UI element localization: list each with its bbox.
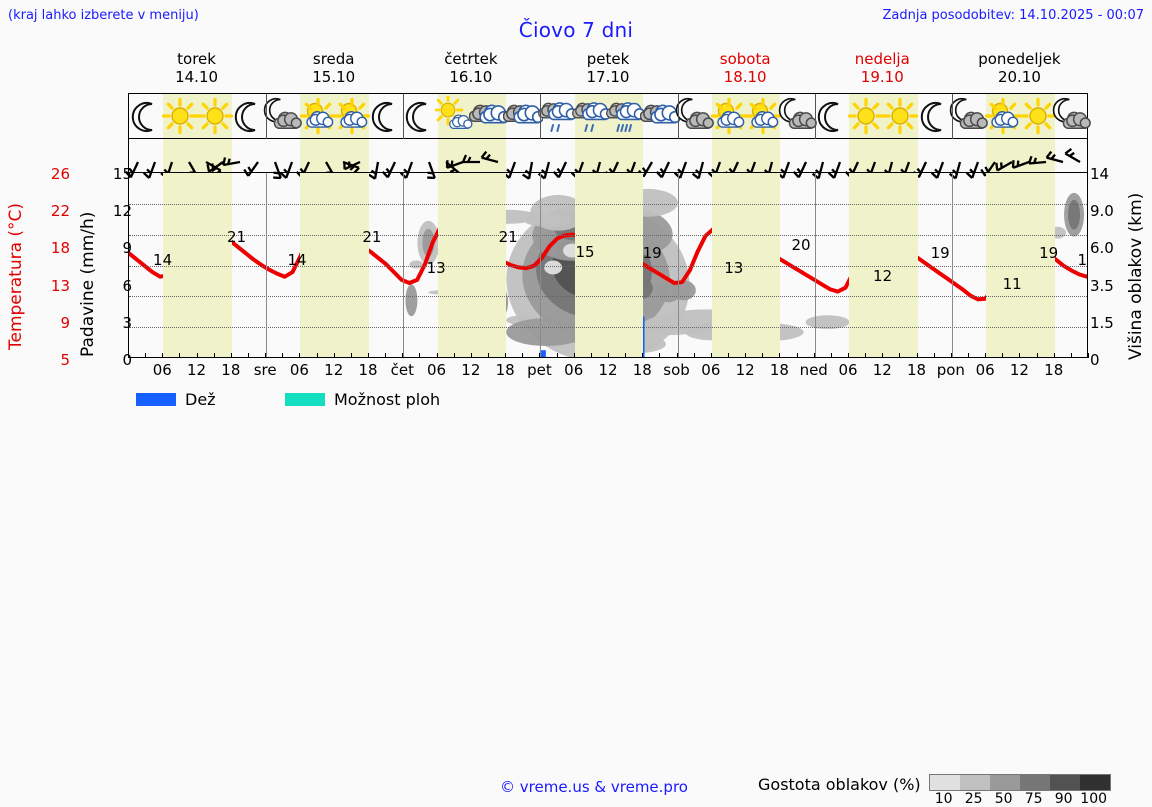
wind-barb [1069,142,1091,168]
hour-tick-mark [625,353,626,358]
cloud-density-swatch [930,775,960,790]
hour-tick-mark [814,353,815,358]
day-gridline [403,173,404,357]
hour-tick-label: čet [391,361,414,379]
axis-tick-label: 26 [51,165,70,183]
axis-tick-label: 0 [1090,351,1100,369]
hour-tick-mark [248,353,249,358]
temperature-label-max: 19 [931,244,950,262]
hour-tick-mark [539,353,540,358]
hour-tick-mark [934,353,935,358]
cloud-density-swatch [1050,775,1080,790]
cloud-density-legend-title: Gostota oblakov (%) [758,774,921,794]
hour-tick-mark [1088,353,1089,358]
axis-tick-label: 9 [60,314,70,332]
hour-tick-mark [608,353,609,358]
axis-tick-label: 1.5 [1090,314,1114,332]
hour-tick-label: 12 [873,361,892,379]
legend-item-rain: Dež [136,390,216,409]
hour-tick-mark [1019,353,1020,358]
axis-tick-label: 6.0 [1090,239,1114,257]
hour-tick-mark [385,353,386,358]
hour-tick-mark [574,353,575,358]
axis-tick-label: 3 [122,314,132,332]
hour-tick-mark [762,353,763,358]
day-header-sobota: sobota18.10 [677,50,814,92]
hour-tick-label: 12 [461,361,480,379]
axis-tick-label: 12 [113,202,132,220]
day-header-četrtek: četrtek16.10 [402,50,539,92]
hour-tick-mark [642,353,643,358]
legend-item-showers: Možnost ploh [285,390,440,409]
cloud-density-label: 25 [959,791,989,807]
hour-tick-mark [917,353,918,358]
hour-tick-mark [1054,353,1055,358]
day-date: 14.10 [128,68,265,86]
hour-tick-mark [214,353,215,358]
hour-tick-label: pet [527,361,552,379]
cloud-density-swatch [960,775,990,790]
axis-tick-label: 18 [51,239,70,257]
temperature-label-max: 21 [362,228,381,246]
horizontal-gridline [129,204,1087,205]
hour-tick-mark [779,353,780,358]
hour-tick-mark [591,353,592,358]
axis-tick-label: 6 [122,277,132,295]
axis-tick-label: 14 [1090,165,1109,183]
weather-icon-band [129,94,1087,139]
hour-tick-mark [831,353,832,358]
hour-tick-label: 12 [598,361,617,379]
day-gridline [678,173,679,357]
precipitation-axis-ticks: 15129630 [90,160,132,370]
hour-tick-label: 18 [633,361,652,379]
cloud-density-label: 75 [1019,791,1049,807]
hour-tick-mark [368,353,369,358]
hour-tick-mark [1037,353,1038,358]
cloud-density-swatch [990,775,1020,790]
hour-tick-mark [334,353,335,358]
hour-tick-mark [402,353,403,358]
temperature-label-min: 14 [287,251,306,269]
hour-tick-label: 06 [838,361,857,379]
hour-tick-mark [694,353,695,358]
hour-tick-mark [557,353,558,358]
temperature-label-min: 13 [724,259,743,277]
temperature-label-max: 19 [643,244,662,262]
rain-color-swatch [136,393,176,406]
icon-band-day-separator [678,94,679,139]
icon-band-day-separator [952,94,953,139]
hour-tick-label: 18 [770,361,789,379]
cloud-density-scale: 1025507590100 [929,774,1111,807]
hour-tick-mark [231,353,232,358]
horizontal-gridline [129,327,1087,328]
day-gridline [952,173,953,357]
day-name: četrtek [402,50,539,68]
hour-tick-label: 06 [976,361,995,379]
hour-tick-mark [677,353,678,358]
day-header-nedelja: nedelja19.10 [814,50,951,92]
hour-tick-label: ned [800,361,828,379]
temperature-label-min: 12 [873,267,892,285]
page-header: (kraj lahko izberete v meniju) Čiovo 7 d… [0,0,1152,34]
day-date: 18.10 [677,68,814,86]
hour-tick-mark [899,353,900,358]
day-date: 17.10 [539,68,676,86]
day-date: 15.10 [265,68,402,86]
hour-tick-mark [437,353,438,358]
hour-tick-mark [985,353,986,358]
cloud-height-axis-ticks: 149.06.03.51.50 [1090,160,1130,370]
weather-icon-moon-cloud [1052,96,1092,136]
hour-tick-label: 12 [736,361,755,379]
day-date: 16.10 [402,68,539,86]
cloud-density-legend: Gostota oblakov (%) 1025507590100 [758,774,1111,807]
hour-tick-label: 06 [701,361,720,379]
axis-tick-label: 9.0 [1090,202,1114,220]
hour-tick-mark [797,353,798,358]
forecast-plot: 142114211321151913201219111914 [128,93,1088,358]
day-gridline [815,173,816,357]
hour-tick-mark [505,353,506,358]
hour-tick-mark [419,353,420,358]
day-date: 19.10 [814,68,951,86]
hour-tick-label: 18 [1044,361,1063,379]
copyright-link[interactable]: © vreme.us & vreme.pro [500,778,688,796]
icon-band-day-separator [266,94,267,139]
temperature-label-max: 20 [791,236,810,254]
hour-tick-label: 06 [153,361,172,379]
day-header-sreda: sreda15.10 [265,50,402,92]
icon-band-day-separator [540,94,541,139]
horizontal-gridline [129,266,1087,267]
hour-tick-label: sob [663,361,690,379]
hour-tick-mark [745,353,746,358]
hour-tick-label: 06 [290,361,309,379]
hour-tick-label: 12 [187,361,206,379]
hour-tick-mark [162,353,163,358]
hour-tick-mark [1071,353,1072,358]
last-update-text: Zadnja posodobitev: 14.10.2025 - 00:07 [882,8,1144,23]
cloud-density-label: 50 [989,791,1019,807]
hour-tick-mark [197,353,198,358]
icon-band-day-separator [403,94,404,139]
hour-tick-mark [351,353,352,358]
axis-tick-label: 9 [122,239,132,257]
horizontal-gridline [129,296,1087,297]
hour-tick-mark [711,353,712,358]
legend: Dež Možnost ploh © vreme.us & vreme.pro … [0,386,1152,426]
temperature-label-max: 19 [1039,244,1058,262]
hour-tick-mark [317,353,318,358]
hour-tick-mark [968,353,969,358]
day-header-petek: petek17.10 [539,50,676,92]
cloud-density-scale-bar [929,774,1111,791]
hour-tick-mark [179,353,180,358]
day-header-torek: torek14.10 [128,50,265,92]
cloud-density-label: 100 [1079,791,1109,807]
hour-tick-mark [522,353,523,358]
chart-data-band: 142114211321151913201219111914 [129,172,1087,357]
hour-tick-label: sre [254,361,277,379]
axis-tick-label: 22 [51,202,70,220]
axis-tick-label: 3.5 [1090,277,1114,295]
cloud-density-label: 10 [929,791,959,807]
temperature-axis-ticks: 2622181395 [28,160,70,370]
temperature-label-min: 11 [1003,275,1022,293]
hour-tick-mark [865,353,866,358]
day-name: nedelja [814,50,951,68]
day-header-row: torek14.10sreda15.10četrtek16.10petek17.… [128,50,1088,92]
showers-color-swatch [285,393,325,406]
hour-tick-mark [882,353,883,358]
hour-axis: 061218sre061218čet061218pet061218sob0612… [128,359,1088,383]
hour-tick-label: 06 [427,361,446,379]
hour-tick-mark [848,353,849,358]
axis-tick-label: 5 [60,351,70,369]
hour-tick-label: 18 [221,361,240,379]
hour-tick-label: 12 [1010,361,1029,379]
hour-tick-mark [145,353,146,358]
day-name: sobota [677,50,814,68]
hour-tick-mark [951,353,952,358]
day-name: ponedeljek [951,50,1088,68]
hour-tick-mark [488,353,489,358]
hour-tick-mark [1002,353,1003,358]
day-date: 20.10 [951,68,1088,86]
temperature-label-min: 13 [427,259,446,277]
hour-tick-mark [282,353,283,358]
cloud-density-swatch [1020,775,1050,790]
horizontal-gridline [129,235,1087,236]
day-name: sreda [265,50,402,68]
hour-tick-label: 18 [496,361,515,379]
hour-tick-label: 18 [907,361,926,379]
cloud-density-swatch [1080,775,1110,790]
day-name: torek [128,50,265,68]
hour-tick-label: 06 [564,361,583,379]
day-name: petek [539,50,676,68]
hour-tick-mark [128,353,129,358]
hour-tick-mark [265,353,266,358]
temperature-label-min: 14 [1078,251,1087,269]
legend-label-rain: Dež [185,390,216,409]
legend-label-showers: Možnost ploh [334,390,440,409]
cloud-density-label: 90 [1049,791,1079,807]
hour-tick-mark [454,353,455,358]
hour-tick-mark [659,353,660,358]
hour-tick-label: 12 [324,361,343,379]
wind-barb-band [129,139,1087,172]
hour-tick-mark [299,353,300,358]
cloud-density-scale-labels: 1025507590100 [929,791,1111,807]
day-gridline [266,173,267,357]
hour-tick-mark [728,353,729,358]
day-gridline [540,173,541,357]
temperature-axis-title: Temperatura (°C) [6,175,26,350]
temperature-label-min: 15 [575,243,594,261]
axis-tick-label: 15 [113,165,132,183]
hour-tick-label: 18 [358,361,377,379]
hour-tick-mark [471,353,472,358]
axis-tick-label: 13 [51,277,70,295]
temperature-label-max: 21 [227,228,246,246]
icon-band-day-separator [815,94,816,139]
hour-tick-label: pon [937,361,965,379]
day-header-ponedeljek: ponedeljek20.10 [951,50,1088,92]
temperature-label-max: 21 [499,228,518,246]
temperature-label-min: 14 [153,251,172,269]
